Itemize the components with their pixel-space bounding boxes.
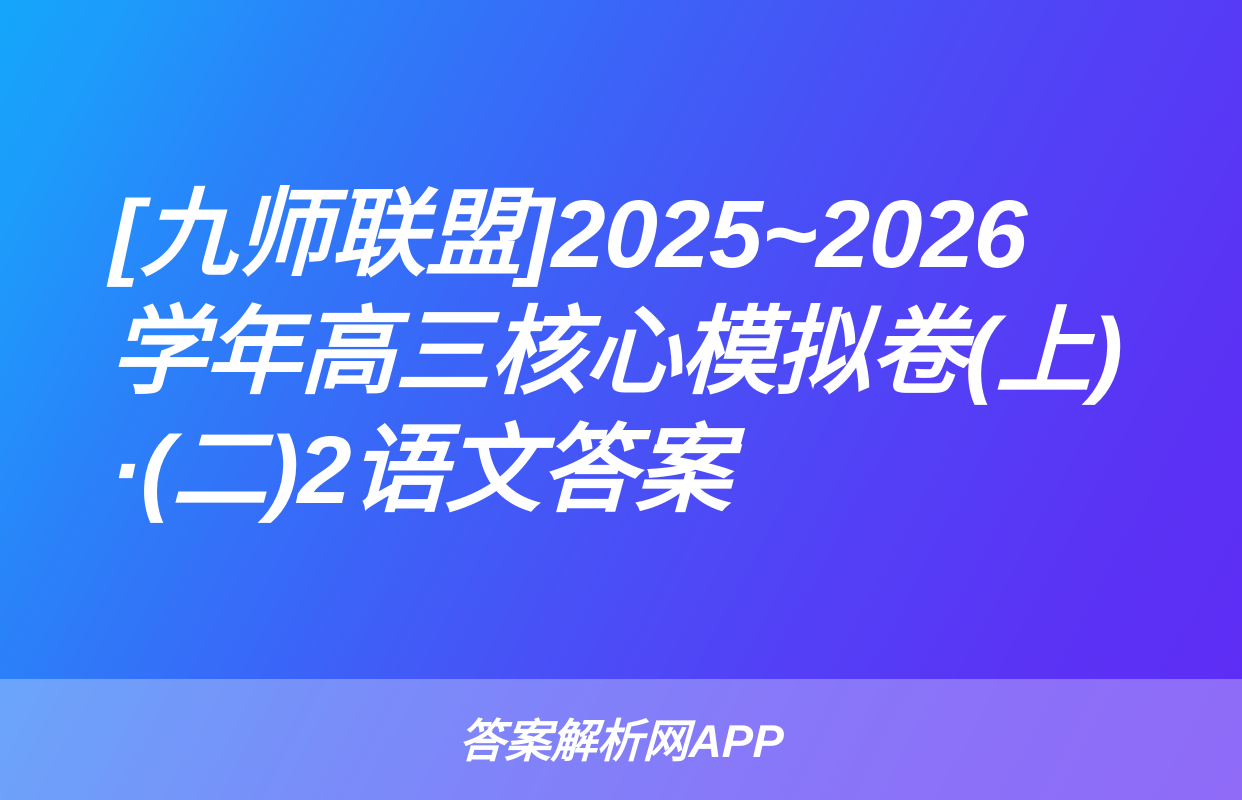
title-line-2: 学年高三核心模拟卷(上) (109, 294, 1181, 412)
title-block: [九师联盟]2025~2026 学年高三核心模拟卷(上) ·(二)2语文答案 (110, 176, 1180, 530)
footer-watermark-band: 答案解析网APP (0, 679, 1242, 800)
title-line-3: ·(二)2语文答案 (109, 412, 1181, 530)
watermark-text: 答案解析网APP (458, 718, 784, 764)
poster-canvas: [九师联盟]2025~2026 学年高三核心模拟卷(上) ·(二)2语文答案 答… (0, 0, 1242, 800)
title-line-1: [九师联盟]2025~2026 (109, 176, 1181, 294)
